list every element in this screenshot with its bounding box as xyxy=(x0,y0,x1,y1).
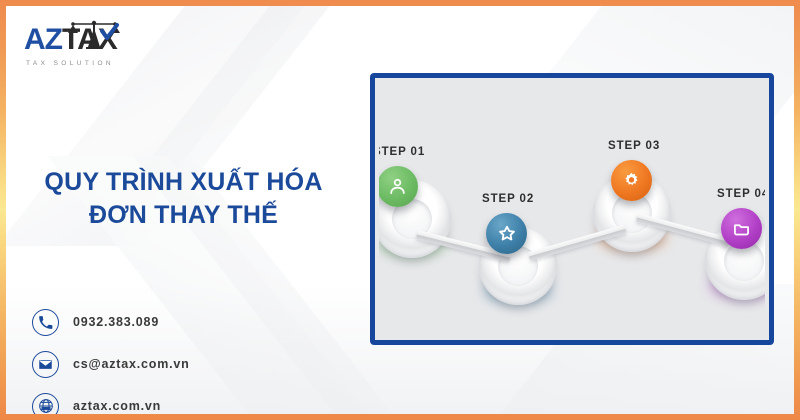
email-icon xyxy=(32,351,59,378)
step-1-label: STEP 01 xyxy=(379,146,425,158)
contact-email-value: cs@aztax.com.vn xyxy=(73,357,190,371)
poster-canvas: AZTAX TAX SOLUTION QUY TRÌNH XUẤT HÓA ĐƠ… xyxy=(6,6,794,414)
gear-icon xyxy=(611,160,652,201)
page-title-line-1: QUY TRÌNH XUẤT HÓA xyxy=(6,166,361,199)
process-diagram-panel: STEP 01 STEP 02 xyxy=(370,73,774,345)
process-step-1[interactable]: STEP 01 xyxy=(379,180,451,258)
logo-az-text: AZ xyxy=(24,23,62,56)
contact-row-website[interactable]: aztax.com.vn xyxy=(32,390,190,414)
folder-icon xyxy=(721,208,762,249)
contact-website-value: aztax.com.vn xyxy=(73,399,161,413)
step-3-label: STEP 03 xyxy=(608,140,660,152)
step-4-label: STEP 04 xyxy=(717,188,765,200)
process-step-3[interactable]: STEP 03 xyxy=(593,174,671,252)
poster-frame: AZTAX TAX SOLUTION QUY TRÌNH XUẤT HÓA ĐƠ… xyxy=(0,0,800,420)
process-diagram-canvas: STEP 01 STEP 02 xyxy=(379,82,765,336)
aztax-logo: AZTAX TAX SOLUTION xyxy=(24,20,154,67)
step-2-label: STEP 02 xyxy=(482,193,534,205)
globe-icon xyxy=(32,393,59,415)
contact-list: 0932.383.089 cs@aztax.com.vn xyxy=(32,306,190,414)
scales-icon xyxy=(66,20,122,50)
contact-row-phone[interactable]: 0932.383.089 xyxy=(32,306,190,338)
logo-wordmark: AZTAX xyxy=(24,20,154,64)
contact-phone-value: 0932.383.089 xyxy=(73,315,159,329)
contact-row-email[interactable]: cs@aztax.com.vn xyxy=(32,348,190,380)
process-step-2[interactable]: STEP 02 xyxy=(479,227,557,305)
page-title: QUY TRÌNH XUẤT HÓA ĐƠN THAY THẾ xyxy=(6,166,361,232)
star-icon xyxy=(486,213,527,254)
page-title-line-2: ĐƠN THAY THẾ xyxy=(6,199,361,232)
user-icon xyxy=(379,166,418,207)
phone-icon xyxy=(32,309,59,336)
